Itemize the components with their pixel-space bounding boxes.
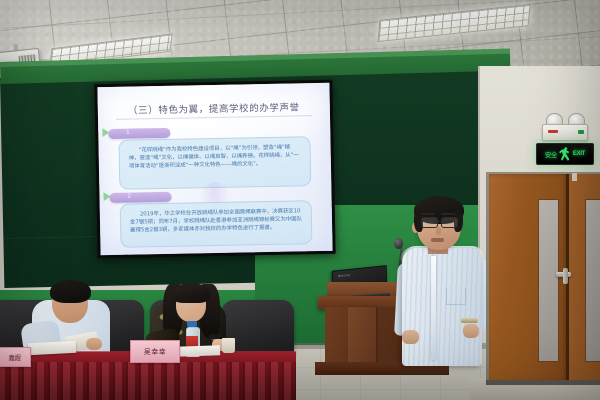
presenter-shirt (402, 248, 482, 366)
seated-man-document (28, 341, 77, 355)
eyeglasses-bridge (436, 221, 441, 222)
podium-column (348, 307, 376, 365)
slide-textbox-2: 2019年，华之学校在开放跳绳队参加全国跳绳联赛中，决赛获区10金7银5铜；同年… (120, 200, 313, 248)
presenter-shirt-stripes (402, 248, 482, 366)
presenter-mouth (431, 238, 444, 242)
seated-man-hair (50, 280, 91, 303)
slide-bullet-bar-2: 2 (109, 192, 171, 203)
running-man-icon (559, 147, 571, 161)
name-placard-right: 吴幸幸 (130, 340, 180, 363)
presenter-nose (436, 227, 441, 235)
table-skirt (0, 362, 296, 400)
seated-woman-hair-top (172, 283, 210, 303)
exit-sign-english-text: EXIT (573, 151, 585, 157)
exit-sign: 安全 EXIT (536, 143, 594, 165)
presenter-hand-right (463, 324, 479, 338)
presenter-eyebrow-right (441, 213, 455, 215)
presenter-wristwatch (461, 318, 478, 323)
presenter-hand-left (402, 330, 419, 344)
name-placard-right-text: 吴幸幸 (144, 347, 167, 357)
door-handle-plate[interactable] (563, 268, 568, 284)
slide-paragraph-1: “花样跳绳”作为我校特色建设项目，以“绳”为引领，塑造“绳”精神，营造“绳”文化… (129, 143, 301, 171)
name-placard-left-text: 嘉煜 (9, 352, 21, 362)
name-placard-left: 嘉煜 (0, 347, 31, 367)
presenter-shirt-placket (431, 256, 436, 360)
slide-bullet-bar-1: 1 (108, 128, 170, 139)
door-frosted-glass-right (585, 199, 600, 362)
laptop-brand-label: lenovo (338, 273, 350, 278)
presenter-shirt-pocket (446, 288, 466, 305)
door-frosted-glass-left (538, 199, 559, 362)
projection-screen: （三）特色为翼，提高学校的办学声誉 1 “花样跳绳”作为我校特色建设项目，以“绳… (97, 83, 332, 255)
seated-man-hand (86, 338, 102, 350)
slide-paragraph-2: 2019年，华之学校在开放跳绳队参加全国跳绳联赛中，决赛获区10金7银5铜；同年… (130, 207, 302, 235)
emergency-light-box (542, 124, 588, 141)
slide-bullet-number-1: 1 (126, 129, 129, 135)
door-threshold (486, 380, 600, 385)
seated-woman-paper (176, 345, 220, 357)
microphone-head (394, 238, 403, 249)
paper-cup (222, 338, 235, 353)
slide-bullet-number-2: 2 (127, 193, 130, 199)
projection-screen-frame: （三）特色为翼，提高学校的办学声誉 1 “花样跳绳”作为我校特色建设项目，以“绳… (94, 80, 335, 259)
eyeglasses-lens-right (441, 217, 458, 228)
presenter-eyebrow-left (421, 213, 435, 215)
eyeglasses-lens-left (421, 217, 438, 228)
exit-sign-chinese-text: 安全 (545, 149, 557, 159)
conference-room-photo: （三）特色为翼，提高学校的办学声誉 1 “花样跳绳”作为我校特色建设项目，以“绳… (0, 0, 600, 400)
door-top-marker (572, 173, 577, 181)
